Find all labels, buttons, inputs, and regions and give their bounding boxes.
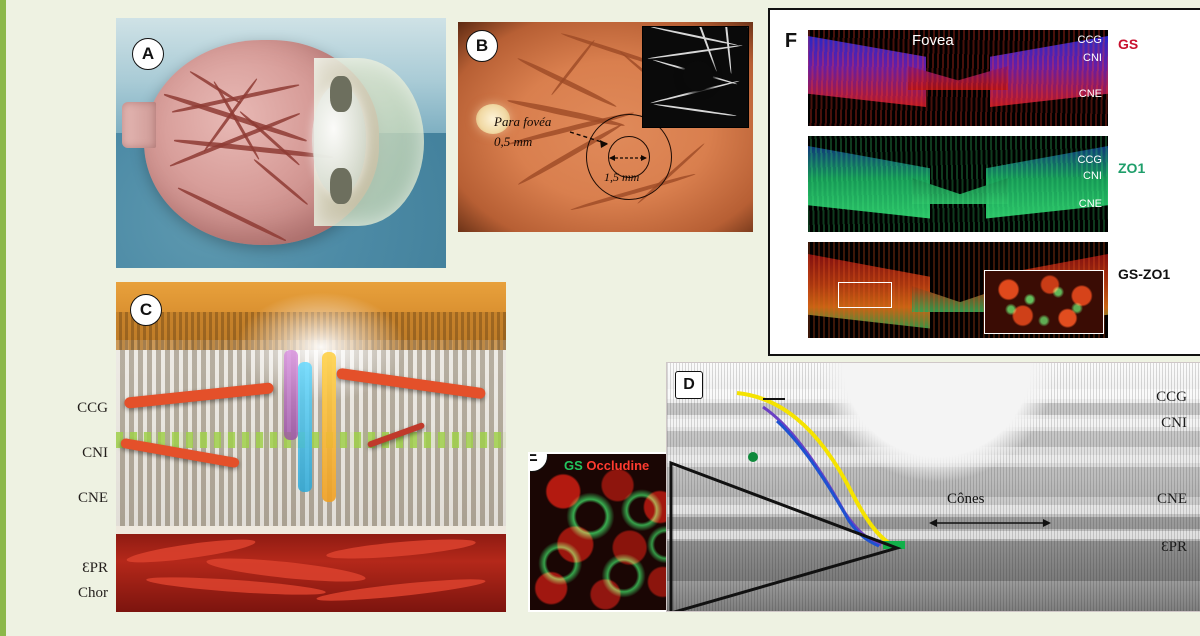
iris-lower: [330, 168, 352, 204]
panel-f-gs-label-cne: CNE: [1079, 88, 1102, 100]
panel-d-label-epr: ƐPR: [1161, 539, 1187, 556]
panel-a-eye-cutaway: A: [116, 18, 446, 268]
panel-f-row-zo1: CCG CNI CNE: [808, 136, 1108, 232]
panel-e-gs-occludin: GS Occludine E: [528, 452, 683, 612]
figure-root: A Para fovéa 0,5 mm 1,5 mm: [0, 0, 1200, 636]
panel-f-gs-label-cni: CNI: [1083, 52, 1102, 64]
panel-f-zo1-label-cni: CNI: [1083, 170, 1102, 182]
light-beam-purple: [284, 350, 298, 440]
panel-f-gs-label-ccg: CCG: [1078, 34, 1102, 46]
panel-f-fovea-label: Fovea: [912, 32, 954, 49]
panel-a-badge: A: [132, 38, 164, 70]
panel-f-stain-gs: GS: [1118, 36, 1138, 52]
panel-d-label-ccg: CCG: [1156, 389, 1187, 406]
panel-f-badge: F: [776, 26, 806, 56]
panel-c-retina-illustration: C: [116, 282, 506, 612]
panel-c-label-cni: CNI: [82, 445, 108, 462]
panel-c-label-chor: Chor: [78, 585, 108, 602]
panel-f-row-gs: CCG CNI CNE Fovea: [808, 30, 1108, 126]
panel-d-label-cni: CNI: [1161, 415, 1187, 432]
panel-c-choroid: [116, 534, 506, 612]
panel-c-label-cne: CNE: [78, 490, 108, 507]
panel-b-fundus: Para fovéa 0,5 mm 1,5 mm B: [458, 22, 753, 232]
panel-d-oct: CCG CNI CNE ƐPR Cônes D: [666, 362, 1200, 612]
cones-span-arrow: [929, 515, 1059, 535]
iris-upper: [330, 76, 352, 112]
panel-d-label-cne: CNE: [1157, 491, 1187, 508]
panel-e-pointer: [666, 363, 1077, 612]
panel-d-badge: D: [675, 371, 703, 399]
panel-b-badge: B: [466, 30, 498, 62]
panel-f-zo1-label-ccg: CCG: [1078, 154, 1102, 166]
panel-f-inset-region-box: [838, 282, 892, 308]
gs-green-channel: [530, 454, 681, 610]
panel-f-stain-zo1: ZO1: [1118, 160, 1145, 176]
panel-c-layer-labels: CCG CNI CNE ƐPR Chor: [6, 282, 116, 612]
panel-f-zo1-label-cne: CNE: [1079, 198, 1102, 210]
angiography-inset: [642, 26, 749, 128]
panel-f-stain-gs-zo1: GS-ZO1: [1118, 266, 1170, 282]
panel-f-magnified-inset: [984, 270, 1104, 334]
panel-c-label-epr: ƐPR: [82, 560, 108, 577]
panel-c-badge: C: [130, 294, 162, 326]
panel-d-cones-label: Cônes: [947, 491, 985, 508]
light-beam-yellow: [322, 352, 336, 502]
panel-e-title: GS Occludine: [564, 458, 649, 473]
panel-f-immunostain-stack: CCG CNI CNE Fovea GS CCG CNI CNE ZO1: [768, 8, 1200, 356]
foveal-avascular-zone: [683, 61, 713, 91]
panel-f-row-gs-zo1: [808, 242, 1108, 338]
light-beam-blue: [298, 362, 312, 492]
panel-e-title-occludine: Occludine: [586, 458, 649, 473]
panel-c-label-ccg: CCG: [77, 400, 108, 417]
panel-e-title-gs: GS: [564, 458, 583, 473]
optic-nerve-head: [122, 102, 156, 148]
